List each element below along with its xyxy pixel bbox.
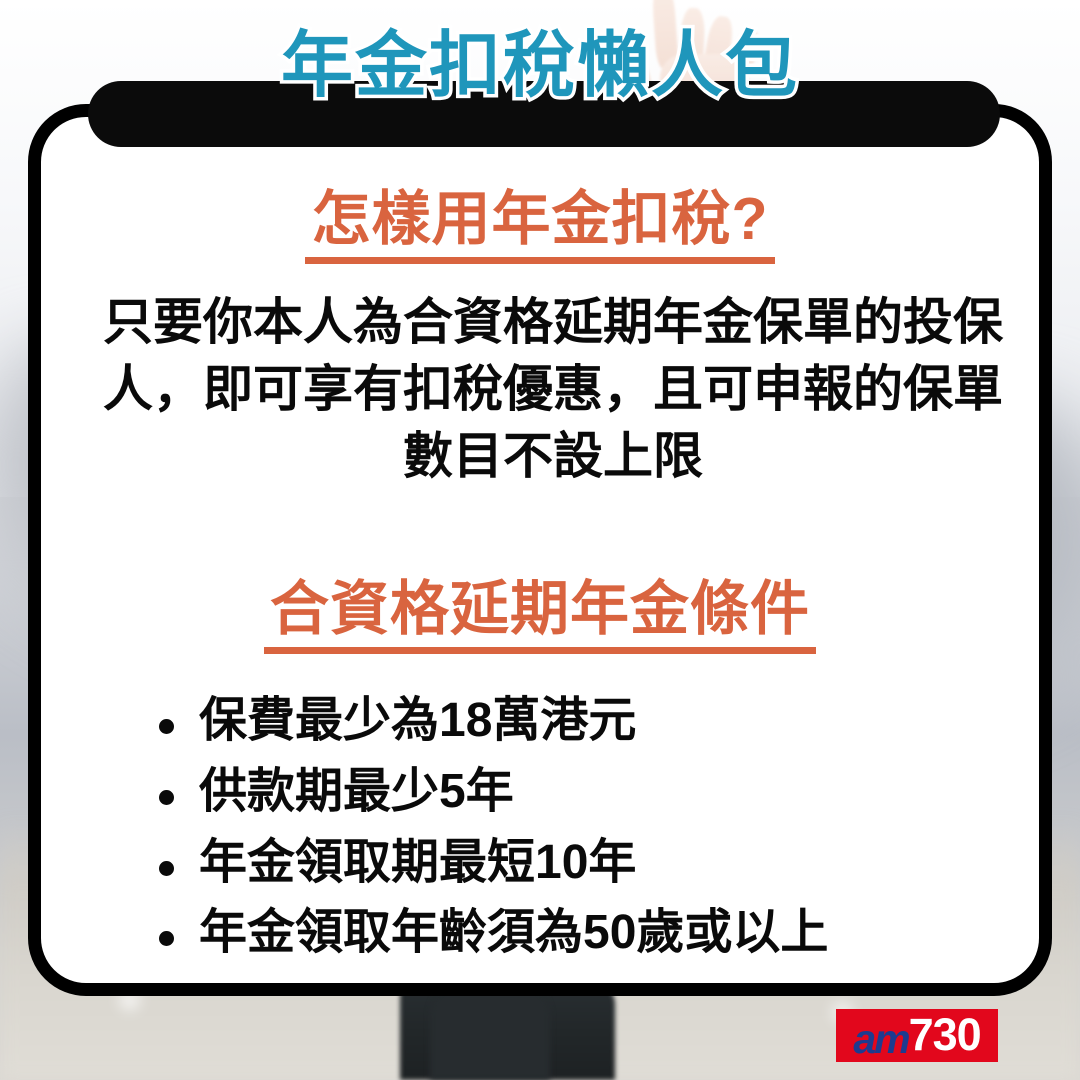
infographic-card: 怎樣用年金扣稅? 只要你本人為合資格延期年金保單的投保人，即可享有扣稅優惠，且可… <box>0 0 1080 1080</box>
page-title: 年金扣稅懶人包 <box>0 30 1080 102</box>
section-heading-conditions: 合資格延期年金條件 <box>41 579 1039 654</box>
card-content: 怎樣用年金扣稅? 只要你本人為合資格延期年金保單的投保人，即可享有扣稅優惠，且可… <box>41 117 1039 983</box>
am730-logo: am 730 <box>836 1009 998 1062</box>
list-item: 年金領取年齡須為50歲或以上 <box>137 907 1017 960</box>
logo-prefix: am <box>853 1019 908 1060</box>
section-heading-how-to-text: 怎樣用年金扣稅? <box>305 189 774 264</box>
section-heading-how-to: 怎樣用年金扣稅? <box>41 189 1039 264</box>
list-item: 年金領取期最短10年 <box>137 837 1017 890</box>
list-item: 保費最少為18萬港元 <box>137 695 1017 748</box>
list-item: 供款期最少5年 <box>137 766 1017 819</box>
section-heading-conditions-text: 合資格延期年金條件 <box>264 579 816 654</box>
logo-number: 730 <box>909 1012 981 1057</box>
conditions-list: 保費最少為18萬港元 供款期最少5年 年金領取期最短10年 年金領取年齡須為50… <box>137 695 1017 978</box>
section-body-how-to: 只要你本人為合資格延期年金保單的投保人，即可享有扣稅優惠，且可申報的保單數目不設… <box>99 289 1007 490</box>
content-card: 怎樣用年金扣稅? 只要你本人為合資格延期年金保單的投保人，即可享有扣稅優惠，且可… <box>28 104 1052 996</box>
background-person-silhouette-inner <box>430 985 550 1080</box>
